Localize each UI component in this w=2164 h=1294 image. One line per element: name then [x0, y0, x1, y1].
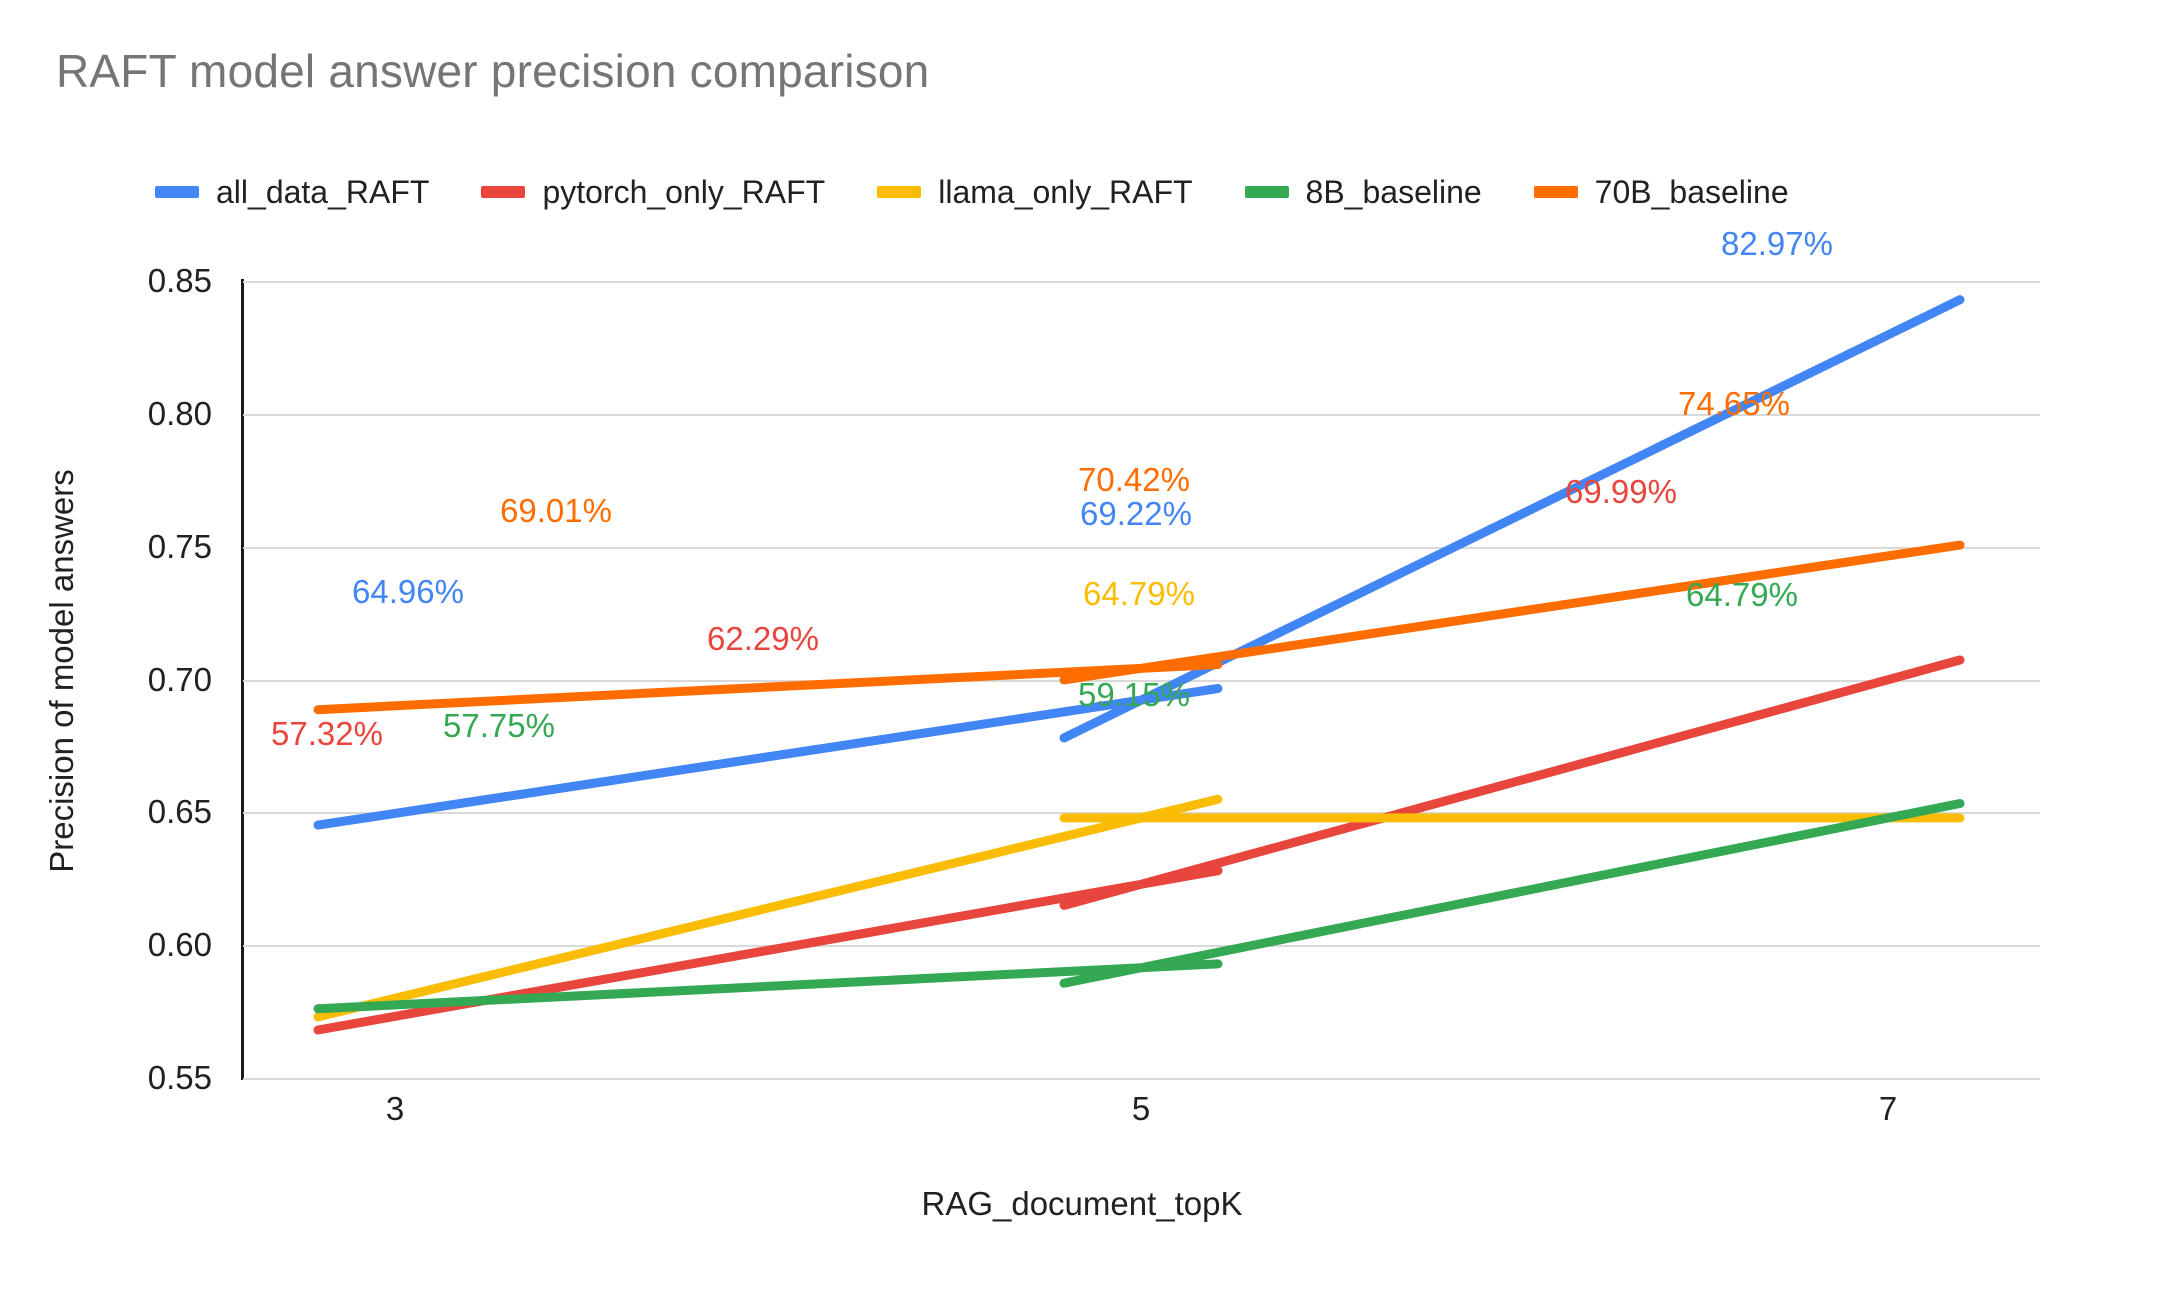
x-axis-tick-label: 5 — [1132, 1090, 1150, 1128]
y-axis-tick-label: 0.85 — [148, 262, 212, 300]
y-axis-tick-label: 0.65 — [148, 793, 212, 831]
data-point-label: 64.79% — [1083, 577, 1195, 610]
gridline — [243, 945, 2040, 947]
gridline — [243, 1078, 2040, 1080]
y-axis-tick-label: 0.75 — [148, 528, 212, 566]
data-point-label: 64.96% — [352, 575, 464, 608]
y-axis-tick-label: 0.80 — [148, 395, 212, 433]
legend-item-label: 70B_baseline — [1595, 176, 1789, 208]
gridline — [243, 281, 2040, 283]
legend-item-label: all_data_RAFT — [216, 176, 429, 208]
legend-item-llama-only-raft[interactable]: llama_only_RAFT — [877, 176, 1192, 208]
x-axis-title: RAG_document_topK — [0, 1185, 2164, 1223]
y-axis-tick-label: 0.70 — [148, 661, 212, 699]
data-point-label: 69.99% — [1565, 475, 1677, 508]
x-axis-tick-label: 7 — [1879, 1090, 1897, 1128]
legend-swatch-icon — [877, 186, 921, 198]
y-axis-tick-label: 0.55 — [148, 1059, 212, 1097]
legend-item-pytorch-only-raft[interactable]: pytorch_only_RAFT — [481, 176, 825, 208]
data-point-label: 82.97% — [1721, 227, 1833, 260]
y-axis-tick-labels: 0.850.800.750.700.650.600.55 — [0, 281, 212, 1078]
chart-title: RAFT model answer precision comparison — [56, 44, 929, 98]
x-axis-tick-label: 3 — [386, 1090, 404, 1128]
y-axis-tick-label: 0.60 — [148, 926, 212, 964]
data-point-label: 57.32% — [271, 717, 383, 750]
chart-container: RAFT model answer precision comparison a… — [0, 0, 2164, 1294]
y-axis-title: Precision of model answers — [43, 321, 81, 1021]
legend-swatch-icon — [1534, 186, 1578, 198]
data-point-label: 69.22% — [1080, 497, 1192, 530]
data-point-label: 69.01% — [500, 494, 612, 527]
chart-legend: all_data_RAFTpytorch_only_RAFTllama_only… — [155, 170, 1841, 214]
data-point-label: 62.29% — [707, 622, 819, 655]
data-point-label: 59.15% — [1078, 678, 1190, 711]
legend-swatch-icon — [155, 186, 199, 198]
legend-item-8b-baseline[interactable]: 8B_baseline — [1245, 176, 1482, 208]
legend-swatch-icon — [481, 186, 525, 198]
data-point-label: 74.65% — [1678, 387, 1790, 420]
data-point-label: 64.79% — [1686, 578, 1798, 611]
legend-swatch-icon — [1245, 186, 1289, 198]
data-point-label: 70.42% — [1078, 463, 1190, 496]
gridline — [243, 547, 2040, 549]
data-point-label: 57.75% — [443, 709, 555, 742]
legend-item-70b-baseline[interactable]: 70B_baseline — [1534, 176, 1789, 208]
legend-item-label: 8B_baseline — [1306, 176, 1482, 208]
legend-item-label: llama_only_RAFT — [938, 176, 1192, 208]
gridline — [243, 812, 2040, 814]
legend-item-label: pytorch_only_RAFT — [542, 176, 825, 208]
legend-item-all-data-raft[interactable]: all_data_RAFT — [155, 176, 429, 208]
